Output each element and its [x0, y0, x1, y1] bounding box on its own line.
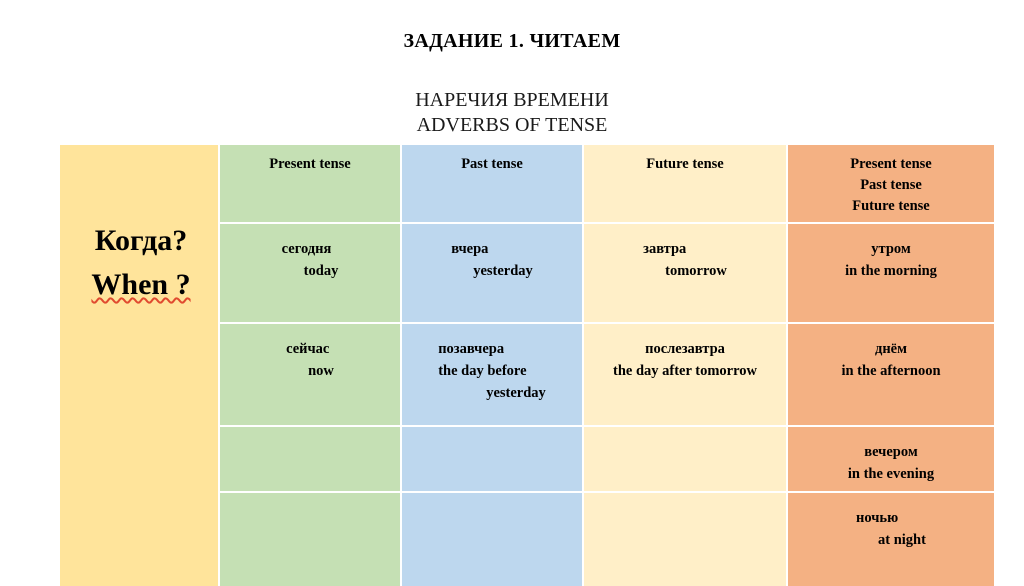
header-past-tense-label: Past tense: [461, 154, 523, 175]
when-label-cell: Когда? When ?: [60, 145, 218, 586]
cell-all-row-3-english: in the evening: [848, 463, 934, 485]
when-label-russian: Когда?: [95, 219, 188, 263]
cell-past-row-3: [402, 427, 582, 491]
cell-all-row-2-english: in the afternoon: [841, 360, 940, 382]
cell-future-row-4: [584, 493, 786, 586]
cell-all-row-4-english: at night: [856, 529, 926, 551]
cell-past-row-2-russian: позавчера: [438, 338, 546, 360]
cell-all-row-4: ночью at night: [788, 493, 994, 586]
cell-all-row-1-russian: утром: [845, 238, 937, 260]
cell-present-row-4: [220, 493, 400, 586]
header-all-tenses-line-2: Past tense: [860, 175, 922, 196]
subtitle-block: НАРЕЧИЯ ВРЕМЕНИ ADVERBS OF TENSE: [0, 88, 1024, 138]
header-all-tenses-line-1: Present tense: [850, 154, 931, 175]
header-future-tense: Future tense: [584, 145, 786, 222]
page-title: ЗАДАНИЕ 1. ЧИТАЕМ: [0, 30, 1024, 53]
cell-present-row-2: сейчас now: [220, 324, 400, 425]
adverbs-of-tense-table: Когда? When ? Present tense Past tense F…: [60, 145, 988, 578]
cell-past-row-2-english: the day before: [438, 360, 546, 382]
cell-present-row-3: [220, 427, 400, 491]
cell-all-row-2: днём in the afternoon: [788, 324, 994, 425]
when-label-english: When ?: [91, 263, 190, 307]
cell-present-row-2-english: now: [286, 360, 334, 382]
cell-all-row-2-russian: днём: [841, 338, 940, 360]
cell-all-row-3: вечером in the evening: [788, 427, 994, 491]
subtitle-english: ADVERBS OF TENSE: [0, 113, 1024, 138]
cell-present-row-1-russian: сегодня: [282, 238, 339, 260]
cell-future-row-1: завтра tomorrow: [584, 224, 786, 322]
cell-all-row-1: утром in the morning: [788, 224, 994, 322]
header-all-tenses-line-3: Future tense: [852, 196, 929, 217]
cell-present-row-2-russian: сейчас: [286, 338, 334, 360]
cell-past-row-2-english-line-2: yesterday: [438, 382, 546, 404]
header-present-tense: Present tense: [220, 145, 400, 222]
cell-future-row-3: [584, 427, 786, 491]
cell-future-row-2-russian: послезавтра: [613, 338, 757, 360]
header-future-tense-label: Future tense: [646, 154, 723, 175]
header-present-tense-label: Present tense: [269, 154, 350, 175]
cell-all-row-4-russian: ночью: [856, 507, 926, 529]
cell-all-row-1-english: in the morning: [845, 260, 937, 282]
cell-past-row-1-russian: вчера: [451, 238, 533, 260]
cell-all-row-3-russian: вечером: [848, 441, 934, 463]
cell-future-row-1-english: tomorrow: [643, 260, 727, 282]
cell-future-row-1-russian: завтра: [643, 238, 727, 260]
cell-past-row-4: [402, 493, 582, 586]
cell-future-row-2-english: the day after tomorrow: [613, 360, 757, 382]
subtitle-russian: НАРЕЧИЯ ВРЕМЕНИ: [0, 88, 1024, 113]
header-all-tenses: Present tense Past tense Future tense: [788, 145, 994, 222]
cell-future-row-2: послезавтра the day after tomorrow: [584, 324, 786, 425]
cell-past-row-2: позавчера the day before yesterday: [402, 324, 582, 425]
cell-present-row-1: сегодня today: [220, 224, 400, 322]
cell-present-row-1-english: today: [282, 260, 339, 282]
header-past-tense: Past tense: [402, 145, 582, 222]
cell-past-row-1: вчера yesterday: [402, 224, 582, 322]
cell-past-row-1-english: yesterday: [451, 260, 533, 282]
